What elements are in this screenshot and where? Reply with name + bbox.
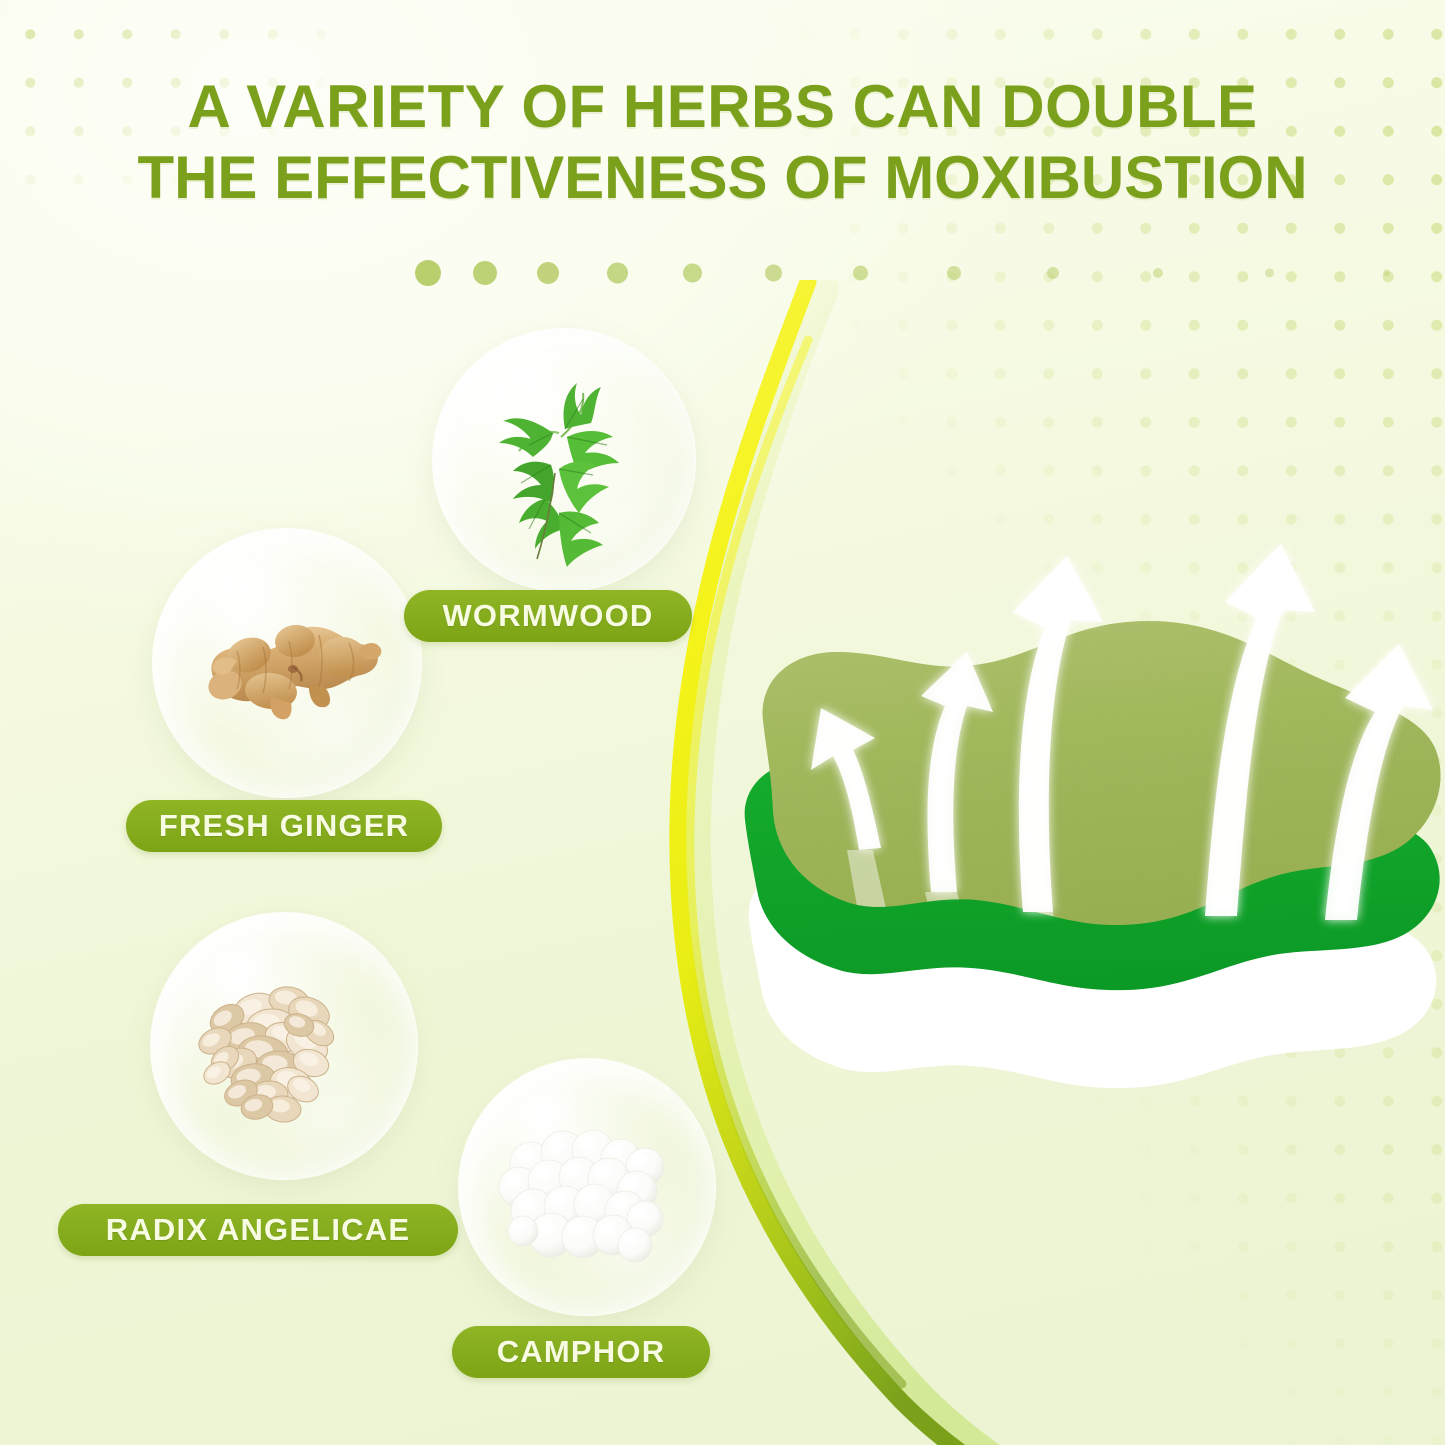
product-infographic-poster: A VARIETY OF HERBS CAN DOUBLE THE EFFECT… bbox=[0, 0, 1445, 1445]
ingredient-label-radix-angelicae[interactable]: RADIX ANGELICAE bbox=[58, 1204, 458, 1256]
moxibustion-patch-cutaway bbox=[735, 520, 1445, 1100]
ingredient-label-wormwood[interactable]: WORMWOOD bbox=[404, 590, 692, 642]
ingredient-label-camphor[interactable]: CAMPHOR bbox=[452, 1326, 710, 1378]
ingredient-bubble-wormwood bbox=[432, 328, 696, 592]
camphor-balls-icon bbox=[459, 1059, 715, 1315]
ginger-root-icon bbox=[153, 529, 421, 797]
ingredient-bubble-fresh-ginger bbox=[152, 528, 422, 798]
headline-line-2: THE EFFECTIVENESS OF MOXIBUSTION bbox=[28, 143, 1417, 214]
wormwood-leaf-icon bbox=[433, 329, 695, 591]
dried-root-slices-icon bbox=[151, 913, 417, 1179]
ingredient-label-fresh-ginger[interactable]: FRESH GINGER bbox=[126, 800, 442, 852]
ingredient-bubble-radix-angelicae bbox=[150, 912, 418, 1180]
ingredient-bubble-camphor bbox=[458, 1058, 716, 1316]
page-title: A VARIETY OF HERBS CAN DOUBLE THE EFFECT… bbox=[0, 72, 1445, 214]
decorative-dot-row bbox=[415, 248, 1445, 298]
headline-line-1: A VARIETY OF HERBS CAN DOUBLE bbox=[28, 72, 1417, 143]
